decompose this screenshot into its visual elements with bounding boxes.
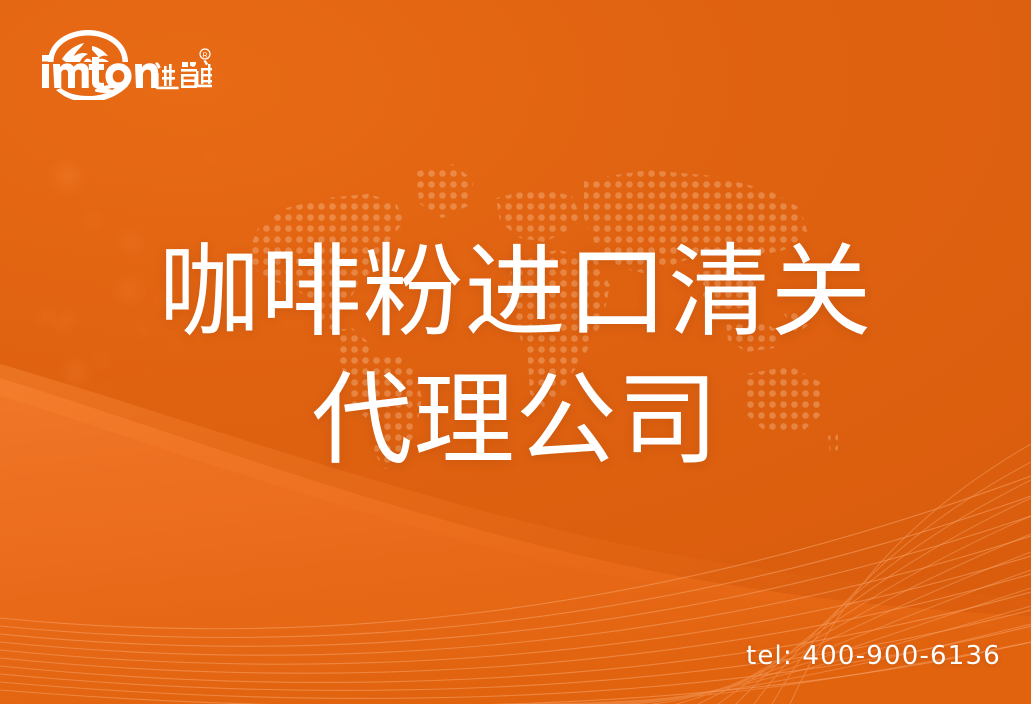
bokeh-circle: [86, 215, 99, 228]
brand-logo[interactable]: R: [36, 26, 212, 100]
bokeh-circle: [205, 152, 215, 162]
contact-phone[interactable]: tel: 400-900-6136: [746, 641, 1001, 671]
headline-line-1: 咖啡粉进口清关: [0, 228, 1031, 356]
banner-poster: R 咖啡粉进口清关 代理公司 tel: 400-900-6136: [0, 0, 1031, 704]
page-title: 咖啡粉进口清关 代理公司: [0, 228, 1031, 484]
bokeh-circle: [54, 163, 80, 189]
registered-trademark-icon: R: [200, 49, 210, 59]
logo-wordmark-chinese: [155, 60, 212, 89]
headline-line-2: 代理公司: [0, 356, 1031, 484]
svg-text:R: R: [202, 52, 207, 59]
